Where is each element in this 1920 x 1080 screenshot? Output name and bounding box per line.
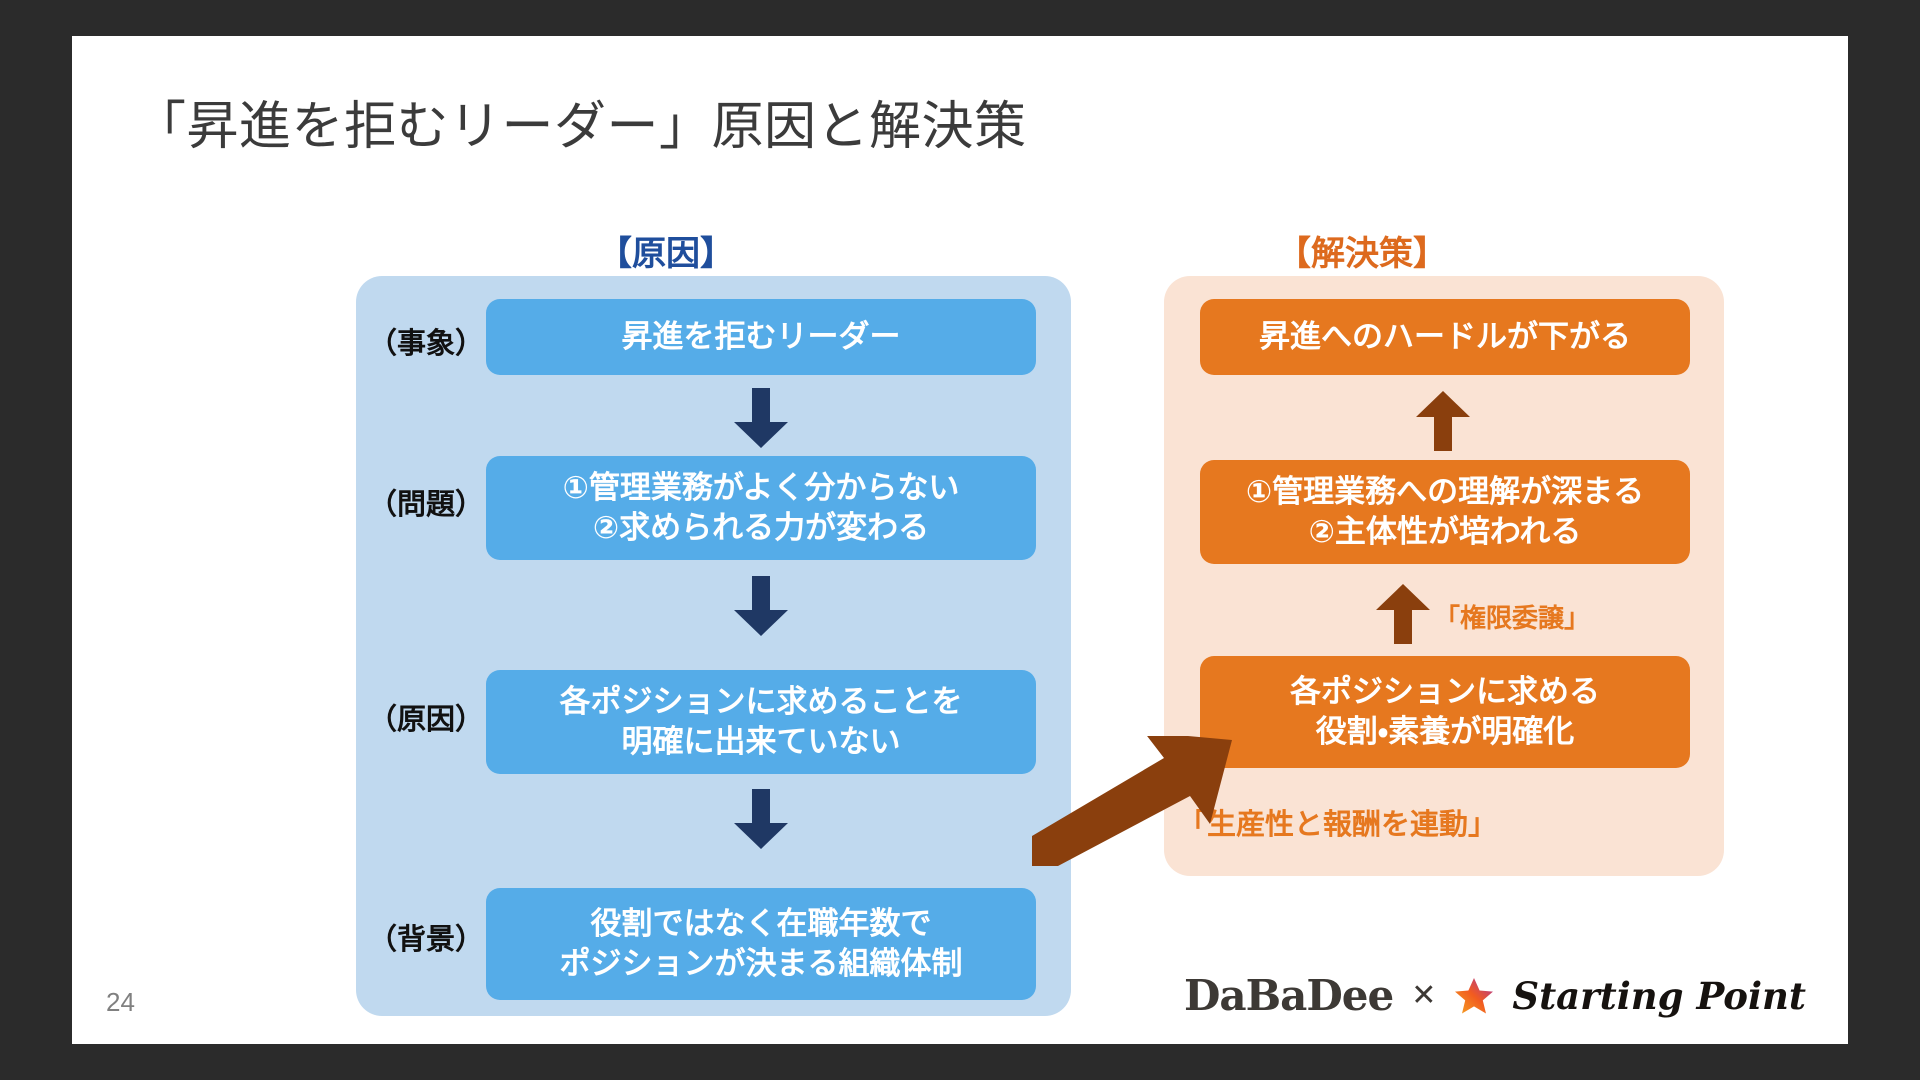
stage-label-cause: （原因） bbox=[368, 696, 484, 738]
cause-box-rootcause-line2: 明確に出来ていない bbox=[622, 722, 901, 762]
cause-box-background-line1: 役割ではなく在職年数で bbox=[591, 904, 932, 944]
star-icon bbox=[1454, 976, 1494, 1016]
stage-label-phenomenon: （事象） bbox=[368, 320, 484, 362]
annotation-delegation: 「権限委譲」 bbox=[1434, 598, 1590, 635]
solution-column-heading: 【解決策】 bbox=[1252, 226, 1472, 275]
cause-box-problem-line2: ②求められる力が変わる bbox=[593, 508, 929, 548]
down-arrow-icon-2 bbox=[734, 576, 788, 636]
cause-box-problem[interactable]: ①管理業務がよく分からない ②求められる力が変わる bbox=[486, 456, 1036, 560]
solution-box-understanding-line1: ①管理業務への理解が深まる bbox=[1246, 472, 1644, 512]
cause-box-phenomenon-text: 昇進を拒むリーダー bbox=[622, 317, 901, 357]
cause-box-rootcause-line1: 各ポジションに求めることを bbox=[560, 682, 963, 722]
page-title: 「昇進を拒むリーダー」原因と解決策 bbox=[134, 84, 1027, 159]
diagonal-link-arrow-icon bbox=[1032, 736, 1232, 866]
down-arrow-icon-1 bbox=[734, 388, 788, 448]
solution-box-outcome-text: 昇進へのハードルが下がる bbox=[1259, 317, 1631, 357]
cause-box-rootcause[interactable]: 各ポジションに求めることを 明確に出来ていない bbox=[486, 670, 1036, 774]
solution-box-understanding-line2: ②主体性が培われる bbox=[1309, 512, 1582, 552]
solution-box-clarify-line2: 役割・素養が明確化 bbox=[1316, 712, 1575, 752]
cause-box-problem-line1: ①管理業務がよく分からない bbox=[563, 468, 960, 508]
up-arrow-icon-1 bbox=[1416, 391, 1470, 451]
slide-canvas: 「昇進を拒むリーダー」原因と解決策 【原因】 （事象） （問題） （原因） （背… bbox=[72, 36, 1848, 1044]
dabadee-logo: DaBaDee bbox=[1184, 971, 1393, 1020]
page-number: 24 bbox=[106, 987, 135, 1018]
down-arrow-icon-3 bbox=[734, 789, 788, 849]
stage-label-background: （背景） bbox=[368, 916, 484, 958]
cause-box-background[interactable]: 役割ではなく在職年数で ポジションが決まる組織体制 bbox=[486, 888, 1036, 1000]
cause-box-background-line2: ポジションが決まる組織体制 bbox=[560, 944, 963, 984]
solution-box-understanding[interactable]: ①管理業務への理解が深まる ②主体性が培われる bbox=[1200, 460, 1690, 564]
cause-box-phenomenon[interactable]: 昇進を拒むリーダー bbox=[486, 299, 1036, 375]
solution-box-clarify-line1: 各ポジションに求める bbox=[1290, 672, 1600, 712]
up-arrow-icon-2 bbox=[1376, 584, 1430, 644]
footer-logos: DaBaDee ✕ Starting Point bbox=[1184, 971, 1806, 1020]
cause-column-heading: 【原因】 bbox=[556, 226, 776, 275]
solution-box-clarify[interactable]: 各ポジションに求める 役割・素養が明確化 bbox=[1200, 656, 1690, 768]
stage-label-problem: （問題） bbox=[368, 481, 484, 523]
starting-point-logo: Starting Point bbox=[1512, 974, 1806, 1018]
solution-box-outcome[interactable]: 昇進へのハードルが下がる bbox=[1200, 299, 1690, 375]
logo-separator-icon: ✕ bbox=[1411, 978, 1436, 1013]
